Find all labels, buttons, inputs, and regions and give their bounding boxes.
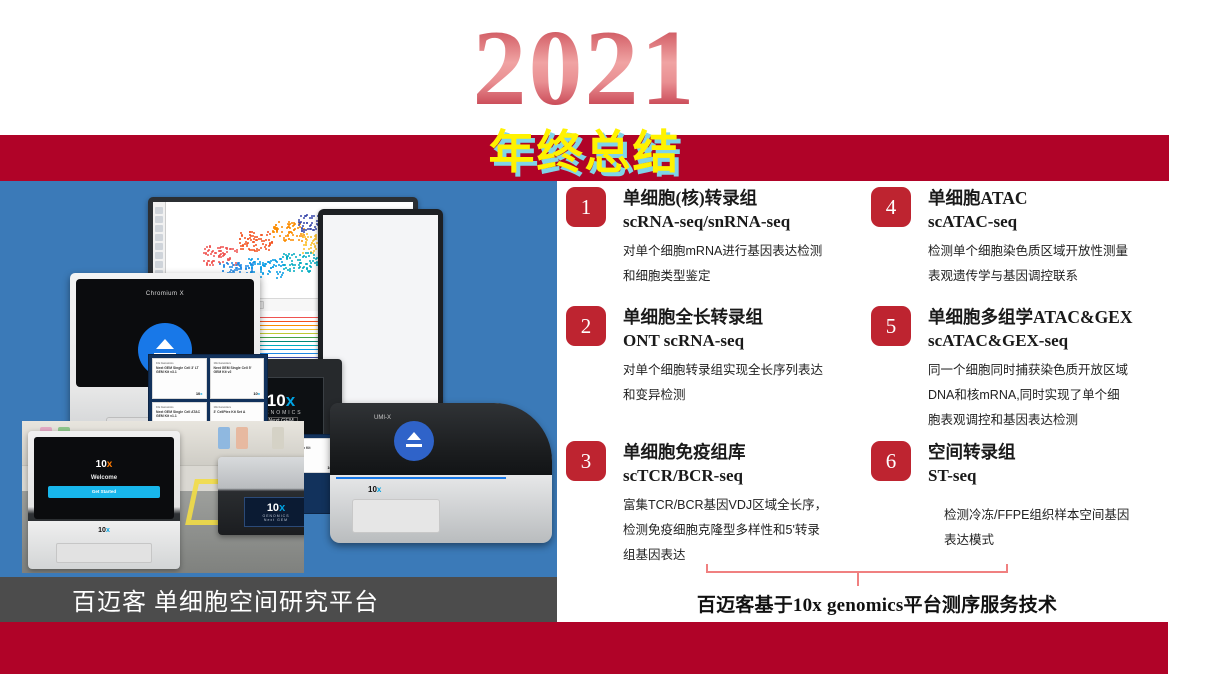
product-brand: 10x Genomics	[156, 362, 203, 365]
scatter-point	[253, 232, 255, 234]
feature-description: 检测单个细胞染色质区域开放性测量表观遗传学与基因调控联系	[928, 239, 1128, 289]
scatter-point	[306, 268, 308, 270]
scatter-point	[298, 239, 300, 241]
product-box: 10x GenomicsNext GEM Single Cell 5' GEM …	[210, 358, 265, 399]
feature-title-cn: 空间转录组	[928, 441, 1129, 464]
tool-icon	[155, 207, 163, 214]
instrument-name-label: Chromium X	[76, 291, 254, 297]
scatter-point	[310, 224, 312, 226]
scatter-point	[305, 263, 307, 265]
feature-number-badge: 5	[871, 306, 911, 346]
scatter-point	[301, 270, 303, 272]
scatter-point	[282, 264, 284, 266]
scatter-point	[299, 235, 301, 237]
product-photo-collage: Graph-Based Chromium X 10x 10x GENOMIC	[0, 181, 557, 577]
feature-description-line: 检测单个细胞染色质区域开放性测量	[928, 239, 1128, 264]
feature-title-en: scRNA-seq/snRNA-seq	[623, 210, 822, 233]
scatter-point	[225, 247, 227, 249]
scatter-point	[305, 256, 307, 258]
scatter-point	[292, 239, 294, 241]
feature-text: 单细胞免疫组库scTCR/BCR-seq富集TCR/BCR基因VDJ区域全长序，…	[623, 441, 827, 568]
feature-number-badge: 6	[871, 441, 911, 481]
feature-number-badge: 3	[566, 441, 606, 481]
feature-item: 1单细胞(核)转录组scRNA-seq/snRNA-seq对单个细胞mRNA进行…	[566, 187, 822, 289]
product-title: 3' CellPlex Kit Set A	[214, 410, 261, 414]
scatter-point	[240, 266, 242, 268]
scatter-point	[268, 245, 270, 247]
feature-description-line: DNA和核mRNA,同时实现了单个细	[928, 383, 1133, 408]
scatter-point	[257, 258, 259, 260]
scatter-point	[203, 260, 205, 262]
welcome-screen: 10x Welcome Get Started	[34, 437, 174, 519]
scatter-point	[258, 249, 260, 251]
scatter-point	[305, 244, 307, 246]
scatter-point	[248, 267, 250, 269]
feature-title-en: scATAC-seq	[928, 210, 1128, 233]
scatter-point	[255, 244, 257, 246]
scatter-point	[315, 248, 317, 250]
scatter-point	[308, 255, 310, 257]
scatter-point	[210, 253, 212, 255]
scatter-point	[305, 215, 307, 217]
get-started-button[interactable]: Get Started	[48, 486, 160, 498]
scatter-point	[303, 248, 305, 250]
scatter-point	[272, 266, 274, 268]
scatter-point	[269, 233, 271, 235]
scatter-point	[257, 263, 259, 265]
tool-icon	[155, 243, 163, 250]
scatter-point	[286, 258, 288, 260]
product-title: Next GEM Single Cell 5' GEM Kit v2	[214, 366, 261, 374]
scatter-point	[279, 271, 281, 273]
product-line-label: Next GEM	[264, 518, 288, 522]
product-brand: 10x Genomics	[214, 362, 261, 365]
scatter-point	[254, 250, 256, 252]
scatter-point	[293, 224, 295, 226]
scatter-point	[276, 230, 278, 232]
scatter-point	[260, 276, 262, 278]
scatter-point	[236, 251, 238, 253]
scatter-point	[291, 254, 293, 256]
scatter-point	[303, 255, 305, 257]
scatter-point	[228, 259, 230, 261]
scatter-point	[308, 271, 310, 273]
scatter-point	[264, 246, 266, 248]
scatter-point	[245, 268, 247, 270]
feature-description-line: 对单个细胞转录组实现全长序列表达	[623, 358, 823, 383]
scatter-point	[249, 234, 251, 236]
scatter-point	[280, 276, 282, 278]
scatter-point	[281, 231, 283, 233]
scatter-point	[220, 253, 222, 255]
scatter-point	[226, 251, 228, 253]
product-title: Next GEM Single Cell 3' LT GEM Kit v3.1	[156, 366, 203, 374]
scatter-point	[313, 215, 315, 217]
feature-description-line: 表达模式	[944, 528, 1129, 553]
scatter-point	[251, 268, 253, 270]
page-title-year: 2021	[0, 14, 1169, 124]
scatter-point	[303, 222, 305, 224]
bracket-center-tick	[857, 573, 859, 586]
scatter-point	[271, 242, 273, 244]
feature-text: 单细胞(核)转录组scRNA-seq/snRNA-seq对单个细胞mRNA进行基…	[623, 187, 822, 289]
accent-line	[336, 477, 506, 479]
scatter-point	[220, 246, 222, 248]
scatter-point	[242, 248, 244, 250]
next-gem-side-unit: 10x GENOMICS Next GEM	[218, 457, 304, 535]
scatter-point	[288, 238, 290, 240]
scatter-point	[227, 263, 229, 265]
scatter-point	[246, 245, 248, 247]
feature-list: 1单细胞(核)转录组scRNA-seq/snRNA-seq对单个细胞mRNA进行…	[557, 181, 1215, 577]
page-subtitle-banner: 年终总结	[0, 124, 1169, 180]
instrument-top-panel: UMI-X	[330, 403, 552, 475]
scatter-point	[303, 266, 305, 268]
scatter-point	[280, 265, 282, 267]
scatter-point	[247, 242, 249, 244]
feature-title-en: ST-seq	[928, 464, 1129, 487]
instrument-base: 10x	[28, 521, 180, 569]
lab-bottle	[272, 427, 284, 449]
feature-description-line: 对单个细胞mRNA进行基因表达检测	[623, 239, 822, 264]
instrument-name-label: UMI-X	[374, 415, 391, 421]
scatter-point	[244, 237, 246, 239]
instrument-drawer	[352, 499, 440, 533]
scatter-point	[273, 231, 275, 233]
feature-description-line: 检测冷冻/FFPE组织样本空间基因	[944, 503, 1129, 528]
scatter-point	[277, 273, 279, 275]
feature-title-cn: 单细胞多组学ATAC&GEX	[928, 306, 1133, 329]
feature-title-cn: 单细胞全长转录组	[623, 306, 823, 329]
feature-description: 富集TCR/BCR基因VDJ区域全长序，检测免疫细胞克隆型多样性和5'转录组基因…	[623, 493, 827, 568]
feature-item: 2单细胞全长转录组ONT scRNA-seq对单个细胞转录组实现全长序列表达和变…	[566, 306, 823, 408]
product-box: 10x GenomicsNext GEM Single Cell 3' LT G…	[152, 358, 207, 399]
welcome-text: Welcome	[91, 475, 117, 481]
scatter-point	[209, 245, 211, 247]
scatter-point	[300, 221, 302, 223]
scatter-point	[293, 267, 295, 269]
scatter-point	[276, 277, 278, 279]
scatter-point	[298, 224, 300, 226]
scatter-point	[265, 239, 267, 241]
scatter-point	[260, 268, 262, 270]
scatter-point	[280, 258, 282, 260]
scatter-point	[235, 267, 237, 269]
scatter-point	[310, 266, 312, 268]
feature-number-badge: 1	[566, 187, 606, 227]
scatter-point	[254, 261, 256, 263]
scatter-point	[297, 227, 299, 229]
bottom-red-band	[0, 622, 1168, 674]
scatter-point	[251, 249, 253, 251]
product-brand: 10x Genomics	[156, 406, 203, 409]
scatter-point	[283, 268, 285, 270]
scatter-point	[255, 239, 257, 241]
feature-title-en: scTCR/BCR-seq	[623, 464, 827, 487]
tool-icon	[155, 252, 163, 259]
scatter-point	[313, 243, 315, 245]
scatter-point	[278, 264, 280, 266]
scatter-point	[222, 246, 224, 248]
scatter-point	[254, 263, 256, 265]
scatter-point	[207, 254, 209, 256]
scatter-point	[268, 239, 270, 241]
scatter-point	[239, 238, 241, 240]
scatter-point	[222, 270, 224, 272]
scatter-point	[315, 258, 317, 260]
controller-instrument-image: 10x Welcome Get Started 10x	[28, 431, 180, 569]
feature-description: 对单个细胞mRNA进行基因表达检测和细胞类型鉴定	[623, 239, 822, 289]
scatter-point	[250, 259, 252, 261]
tool-icon	[155, 261, 163, 268]
tool-icon	[155, 234, 163, 241]
scatter-point	[311, 222, 313, 224]
scatter-point	[299, 254, 301, 256]
scatter-point	[239, 242, 241, 244]
bracket-right-arm	[1006, 564, 1008, 573]
feature-item: 5单细胞多组学ATAC&GEXscATAC&GEX-seq同一个细胞同时捕获染色…	[871, 306, 1133, 433]
eject-button-icon[interactable]	[394, 421, 434, 461]
scatter-point	[262, 262, 264, 264]
product-title: Next GEM Single Cell ATAC GEM Kit v1.1	[156, 410, 203, 418]
scatter-point	[219, 263, 221, 265]
feature-description: 同一个细胞同时捕获染色质开放区域DNA和核mRNA,同时实现了单个细胞表观调控和…	[928, 358, 1133, 433]
scatter-point	[241, 235, 243, 237]
feature-text: 单细胞ATACscATAC-seq检测单个细胞染色质区域开放性测量表观遗传学与基…	[928, 187, 1128, 289]
scatter-point	[292, 234, 294, 236]
feature-number-badge: 4	[871, 187, 911, 227]
scatter-point	[282, 256, 284, 258]
scatter-point	[235, 264, 237, 266]
feature-description-line: 和细胞类型鉴定	[623, 264, 822, 289]
scatter-point	[293, 253, 295, 255]
scatter-point	[307, 236, 309, 238]
scatter-point	[287, 235, 289, 237]
scatter-point	[264, 265, 266, 267]
scatter-point	[306, 222, 308, 224]
scatter-point	[311, 217, 313, 219]
brand-logo-10x: 10x	[368, 485, 381, 494]
feature-description-line: 检测免疫细胞克隆型多样性和5'转录	[623, 518, 827, 543]
feature-description-line: 和变异检测	[623, 383, 823, 408]
feature-description-line: 富集TCR/BCR基因VDJ区域全长序，	[623, 493, 827, 518]
scatter-point	[295, 256, 297, 258]
scatter-point	[266, 234, 268, 236]
tool-icon	[155, 216, 163, 223]
feature-title-en: scATAC&GEX-seq	[928, 329, 1133, 352]
scatter-point	[253, 241, 255, 243]
scatter-point	[284, 264, 286, 266]
feature-description-line: 表观遗传学与基因调控联系	[928, 264, 1128, 289]
scatter-point	[303, 231, 305, 233]
feature-item: 6空间转录组ST-seq检测冷冻/FFPE组织样本空间基因表达模式	[871, 441, 1129, 553]
scatter-point	[303, 217, 305, 219]
scatter-point	[269, 271, 271, 273]
scatter-point	[265, 248, 267, 250]
feature-title-cn: 单细胞(核)转录组	[623, 187, 822, 210]
scatter-point	[312, 229, 314, 231]
brand-logo-10x: 10x	[253, 391, 260, 396]
scatter-point	[281, 261, 283, 263]
next-gem-display: 10x GENOMICS Next GEM	[244, 497, 304, 527]
scatter-point	[262, 272, 264, 274]
scatter-point	[302, 252, 304, 254]
scatter-point	[275, 224, 277, 226]
scatter-point	[278, 221, 280, 223]
feature-description: 检测冷冻/FFPE组织样本空间基因表达模式	[944, 503, 1129, 553]
scatter-point	[283, 237, 285, 239]
photo-caption-bar: 百迈客 单细胞空间研究平台	[0, 577, 557, 622]
poster-root: 2021 年终总结	[0, 0, 1215, 674]
tool-icon	[155, 225, 163, 232]
scatter-point	[300, 215, 302, 217]
scatter-point	[289, 223, 291, 225]
brand-logo-10x: 10x	[196, 391, 203, 396]
brand-logo-10x: 10x	[267, 392, 295, 409]
scatter-point	[289, 257, 291, 259]
brand-logo-10x: 10x	[98, 527, 110, 534]
scatter-point	[310, 252, 312, 254]
scatter-point	[296, 235, 298, 237]
brand-logo-10x: 10x	[96, 459, 113, 470]
scatter-point	[279, 235, 281, 237]
scatter-point	[273, 236, 275, 238]
scatter-point	[209, 264, 211, 266]
scatter-point	[217, 247, 219, 249]
scatter-point	[212, 264, 214, 266]
product-brand: 10x Genomics	[214, 406, 261, 409]
feature-description: 对单个细胞转录组实现全长序列表达和变异检测	[623, 358, 823, 408]
scatter-point	[302, 225, 304, 227]
feature-item: 4单细胞ATACscATAC-seq检测单个细胞染色质区域开放性测量表观遗传学与…	[871, 187, 1128, 289]
photo-caption-text: 百迈客 单细胞空间研究平台	[0, 582, 379, 617]
feature-number-badge: 2	[566, 306, 606, 346]
feature-text: 单细胞多组学ATAC&GEXscATAC&GEX-seq同一个细胞同时捕获染色质…	[928, 306, 1133, 433]
feature-description-line: 胞表观调控和基因表达检测	[928, 408, 1133, 433]
lab-bottle	[218, 427, 230, 449]
scatter-point	[267, 273, 269, 275]
scatter-point	[211, 251, 213, 253]
feature-text: 空间转录组ST-seq检测冷冻/FFPE组织样本空间基因表达模式	[928, 441, 1129, 553]
scatter-point	[213, 255, 215, 257]
scatter-point	[223, 266, 225, 268]
instrument-drawer	[56, 543, 152, 563]
scatter-point	[309, 217, 311, 219]
umi-x-instrument-image: UMI-X 10x	[330, 403, 552, 543]
scatter-point	[250, 263, 252, 265]
scatter-point	[310, 236, 312, 238]
scatter-point	[306, 233, 308, 235]
scatter-point	[252, 235, 254, 237]
footnote-text: 百迈客基于10x genomics平台测序服务技术	[557, 590, 1197, 617]
scatter-point	[204, 248, 206, 250]
feature-text: 单细胞全长转录组ONT scRNA-seq对单个细胞转录组实现全长序列表达和变异…	[623, 306, 823, 408]
scatter-point	[281, 226, 283, 228]
scatter-point	[281, 274, 283, 276]
feature-title-cn: 单细胞ATAC	[928, 187, 1128, 210]
lab-bottle	[236, 427, 248, 449]
brand-logo-10x: 10x	[267, 503, 285, 514]
scatter-point	[286, 227, 288, 229]
feature-item: 3单细胞免疫组库scTCR/BCR-seq富集TCR/BCR基因VDJ区域全长序…	[566, 441, 827, 568]
scatter-point	[301, 240, 303, 242]
scatter-point	[293, 270, 295, 272]
scatter-point	[261, 234, 263, 236]
scatter-point	[291, 260, 293, 262]
scatter-point	[314, 235, 316, 237]
scatter-point	[260, 247, 262, 249]
scatter-point	[269, 262, 271, 264]
scatter-point	[268, 249, 270, 251]
feature-title-en: ONT scRNA-seq	[623, 329, 823, 352]
scatter-point	[313, 257, 315, 259]
scatter-point	[310, 247, 312, 249]
scatter-point	[289, 270, 291, 272]
summary-bracket	[706, 564, 1008, 586]
scatter-point	[206, 264, 208, 266]
feature-description-line: 同一个细胞同时捕获染色质开放区域	[928, 358, 1133, 383]
feature-title-cn: 单细胞免疫组库	[623, 441, 827, 464]
scatter-point	[206, 246, 208, 248]
scatter-point	[222, 261, 224, 263]
scatter-point	[288, 232, 290, 234]
lab-photo: 10x Welcome Get Started 10x 10x GENOMICS…	[22, 421, 304, 573]
scatter-point	[306, 239, 308, 241]
scatter-point	[307, 252, 309, 254]
scatter-point	[236, 269, 238, 271]
scatter-point	[294, 264, 296, 266]
scatter-point	[247, 265, 249, 267]
